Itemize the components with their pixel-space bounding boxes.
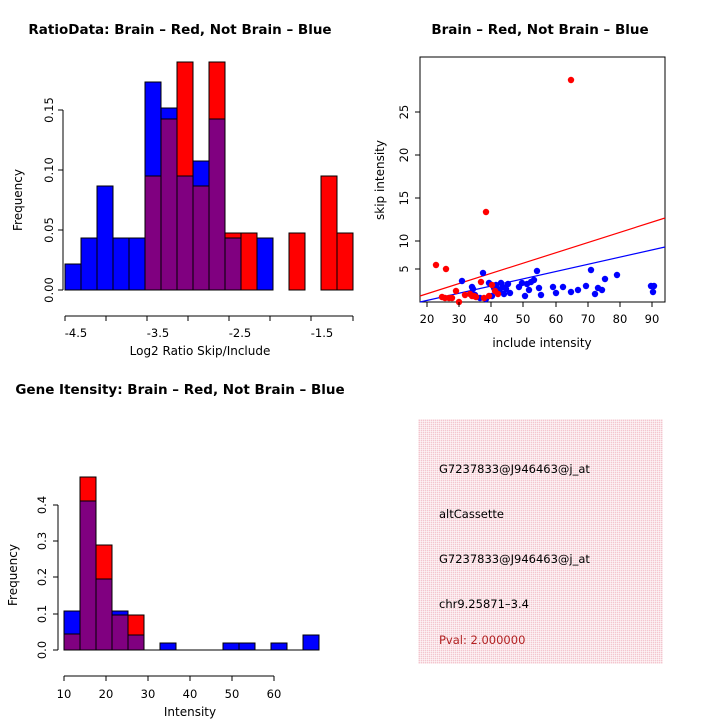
gene-y-tick-label: 0.3 [35, 532, 49, 550]
ratio-y-tick-label: 0.00 [42, 277, 56, 303]
scatter-y-tick-label: 20 [397, 148, 411, 163]
gene-x-tick-label: 50 [225, 687, 240, 701]
info-event-type: altCassette [439, 507, 504, 521]
ratio-histogram-svg: 0.00 0.05 0.10 0.15 Frequency [0, 0, 360, 360]
gene-y-tick-label: 0.4 [35, 496, 49, 514]
gene-histogram-svg: 0.0 0.1 0.2 0.3 0.4 Frequency [0, 360, 360, 720]
scatter-x-tick-label: 90 [645, 312, 660, 326]
info-pval: Pval: 2.000000 [439, 633, 525, 647]
gene-histogram-title: Gene Itensity: Brain – Red, Not Brain – … [0, 382, 360, 398]
gene-x-axis-title: Intensity [164, 705, 216, 719]
ratio-x-tick-label: -4.5 [65, 326, 87, 340]
scatter-x-tick-label: 30 [452, 312, 467, 326]
gene-y-tick-label: 0.0 [35, 641, 49, 659]
scatter-fit-line-brain [420, 218, 665, 296]
ratio-y-tick-label: 0.05 [42, 217, 56, 243]
panel-scatter: Brain – Red, Not Brain – Blue 5 10 15 20… [360, 0, 720, 360]
info-panel-box: G7237833@J946463@j_at altCassette G72378… [418, 419, 663, 664]
scatter-title: Brain – Red, Not Brain – Blue [360, 22, 720, 38]
gene-y-tick-label: 0.1 [35, 605, 49, 623]
scatter-x-tick-label: 60 [549, 312, 564, 326]
scatter-y-axis-title: skip intensity [373, 140, 387, 220]
info-probe-id: G7237833@J946463@j_at [439, 462, 590, 476]
ratio-x-tick-label: -1.5 [311, 326, 333, 340]
ratio-y-tick-labels: 0.00 0.05 0.10 0.15 [42, 97, 56, 303]
info-locus: chr9.25871–3.4 [439, 597, 529, 611]
ratio-x-tick-label: -3.5 [147, 326, 169, 340]
gene-x-tick-label: 40 [183, 687, 198, 701]
panel-info: G7237833@J946463@j_at altCassette G72378… [360, 360, 720, 720]
ratio-y-ticks [58, 110, 63, 290]
ratio-y-axis-title: Frequency [11, 169, 25, 231]
ratio-histogram-title: RatioData: Brain – Red, Not Brain – Blue [0, 22, 360, 38]
scatter-y-ticks [415, 112, 420, 269]
scatter-x-axis-title: include intensity [492, 336, 591, 350]
gene-y-tick-labels: 0.0 0.1 0.2 0.3 0.4 [35, 496, 49, 659]
scatter-y-tick-labels: 5 10 15 20 25 [397, 105, 411, 273]
scatter-x-tick-label: 80 [613, 312, 628, 326]
ratio-x-axis-title: Log2 Ratio Skip/Include [130, 344, 271, 358]
ratio-y-tick-label: 0.10 [42, 157, 56, 183]
scatter-y-tick-label: 15 [397, 191, 411, 206]
scatter-y-tick-label: 25 [397, 105, 411, 120]
scatter-x-tick-label: 20 [420, 312, 435, 326]
figure-canvas: RatioData: Brain – Red, Not Brain – Blue… [0, 0, 720, 720]
gene-x-tick-labels: 10 20 30 40 50 60 [57, 687, 282, 701]
scatter-x-tick-label: 70 [581, 312, 596, 326]
scatter-x-tick-label: 50 [516, 312, 531, 326]
gene-x-ticks [64, 676, 274, 681]
gene-x-tick-label: 60 [267, 687, 282, 701]
scatter-y-tick-label: 5 [397, 265, 411, 272]
gene-y-tick-label: 0.2 [35, 568, 49, 586]
ratio-y-tick-label: 0.15 [42, 97, 56, 123]
ratio-x-tick-label: -2.5 [229, 326, 251, 340]
ratio-x-tick-labels: -4.5 -3.5 -2.5 -1.5 [65, 326, 333, 340]
info-probe-id-secondary: G7237833@J946463@j_at [439, 552, 590, 566]
scatter-plot-frame [420, 57, 665, 302]
scatter-x-tick-label: 40 [484, 312, 499, 326]
panel-gene-histogram: Gene Itensity: Brain – Red, Not Brain – … [0, 360, 360, 720]
scatter-svg: 5 10 15 20 25 skip intensity [360, 0, 720, 360]
panel-ratio-histogram: RatioData: Brain – Red, Not Brain – Blue… [0, 0, 360, 360]
gene-x-tick-label: 20 [99, 687, 114, 701]
gene-x-tick-label: 10 [57, 687, 72, 701]
scatter-points-brain [433, 77, 574, 305]
gene-y-ticks [53, 505, 58, 650]
scatter-y-tick-label: 10 [397, 234, 411, 249]
gene-x-tick-label: 30 [141, 687, 156, 701]
scatter-x-tick-labels: 20 30 40 50 60 70 80 90 [420, 312, 660, 326]
ratio-x-ticks [65, 316, 353, 321]
gene-y-axis-title: Frequency [6, 544, 20, 606]
